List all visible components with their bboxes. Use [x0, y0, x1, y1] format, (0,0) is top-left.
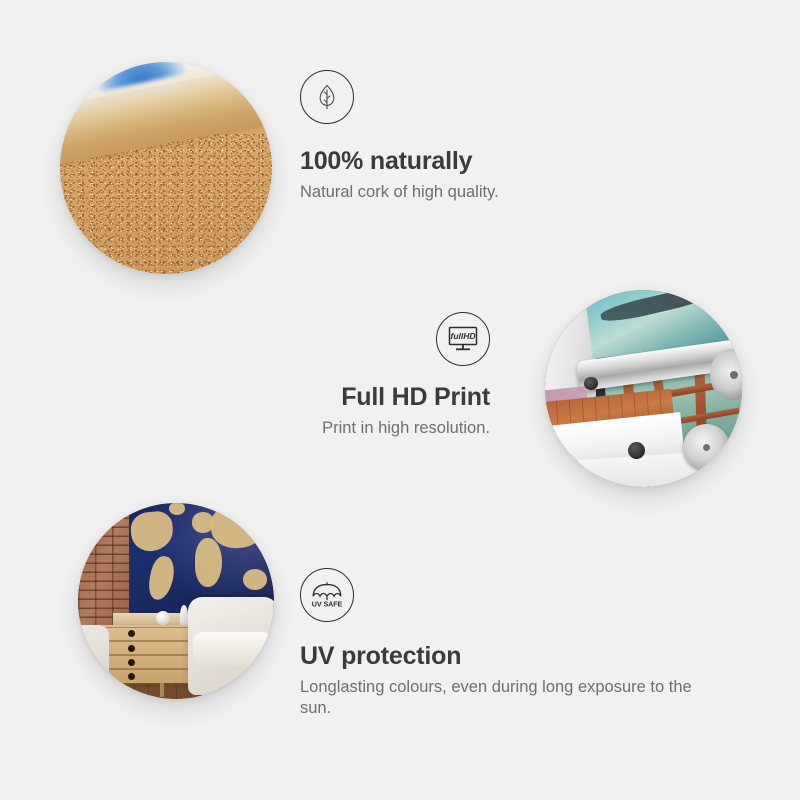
printer-photo-inner: [545, 290, 742, 487]
feature-uv-description: Longlasting colours, even during long ex…: [300, 677, 700, 720]
svg-text:fullHD: fullHD: [450, 331, 475, 341]
room-photo-inner: [78, 503, 274, 699]
decor-figurine: [180, 605, 188, 627]
feature-fullhd-description: Print in high resolution.: [250, 418, 490, 439]
feature-showcase: 100% naturally Natural cork of high qual…: [0, 0, 800, 800]
cork-board-macro-photo: [60, 62, 272, 274]
svg-text:UV SAFE: UV SAFE: [312, 600, 343, 609]
feature-natural-title: 100% naturally: [300, 147, 630, 176]
feature-natural-description: Natural cork of high quality.: [300, 182, 630, 203]
map-landmass: [169, 503, 185, 515]
feature-uv-title: UV protection: [300, 642, 700, 671]
umbrella-uv-safe-icon: UV SAFE: [300, 568, 354, 622]
map-landmass: [195, 538, 222, 587]
decor-globe: [156, 611, 170, 625]
map-landmass: [129, 510, 175, 553]
map-landmass: [243, 569, 267, 590]
feature-natural: 100% naturally Natural cork of high qual…: [300, 70, 630, 203]
map-landmass: [147, 555, 176, 602]
dresser-knob: [128, 659, 135, 666]
cork-photo-inner: [60, 62, 272, 274]
leaf-icon: [300, 70, 354, 124]
white-armchair: [188, 597, 274, 695]
dresser-knob: [128, 673, 135, 680]
dresser-leg: [160, 683, 164, 697]
room-world-map-mural-photo: [78, 503, 274, 699]
dresser-knob: [128, 645, 135, 652]
feature-fullhd-title: Full HD Print: [250, 383, 490, 412]
monitor-fullhd-icon: fullHD: [436, 312, 490, 366]
feature-fullhd: fullHD Full HD Print Print in high resol…: [250, 312, 490, 439]
white-armchair-secondary: [78, 625, 109, 688]
dresser-leg: [110, 683, 114, 697]
feature-uv: UV SAFE UV protection Longlasting colour…: [300, 568, 700, 720]
map-landmass: [210, 503, 267, 550]
printing-machine-photo: [545, 290, 742, 487]
